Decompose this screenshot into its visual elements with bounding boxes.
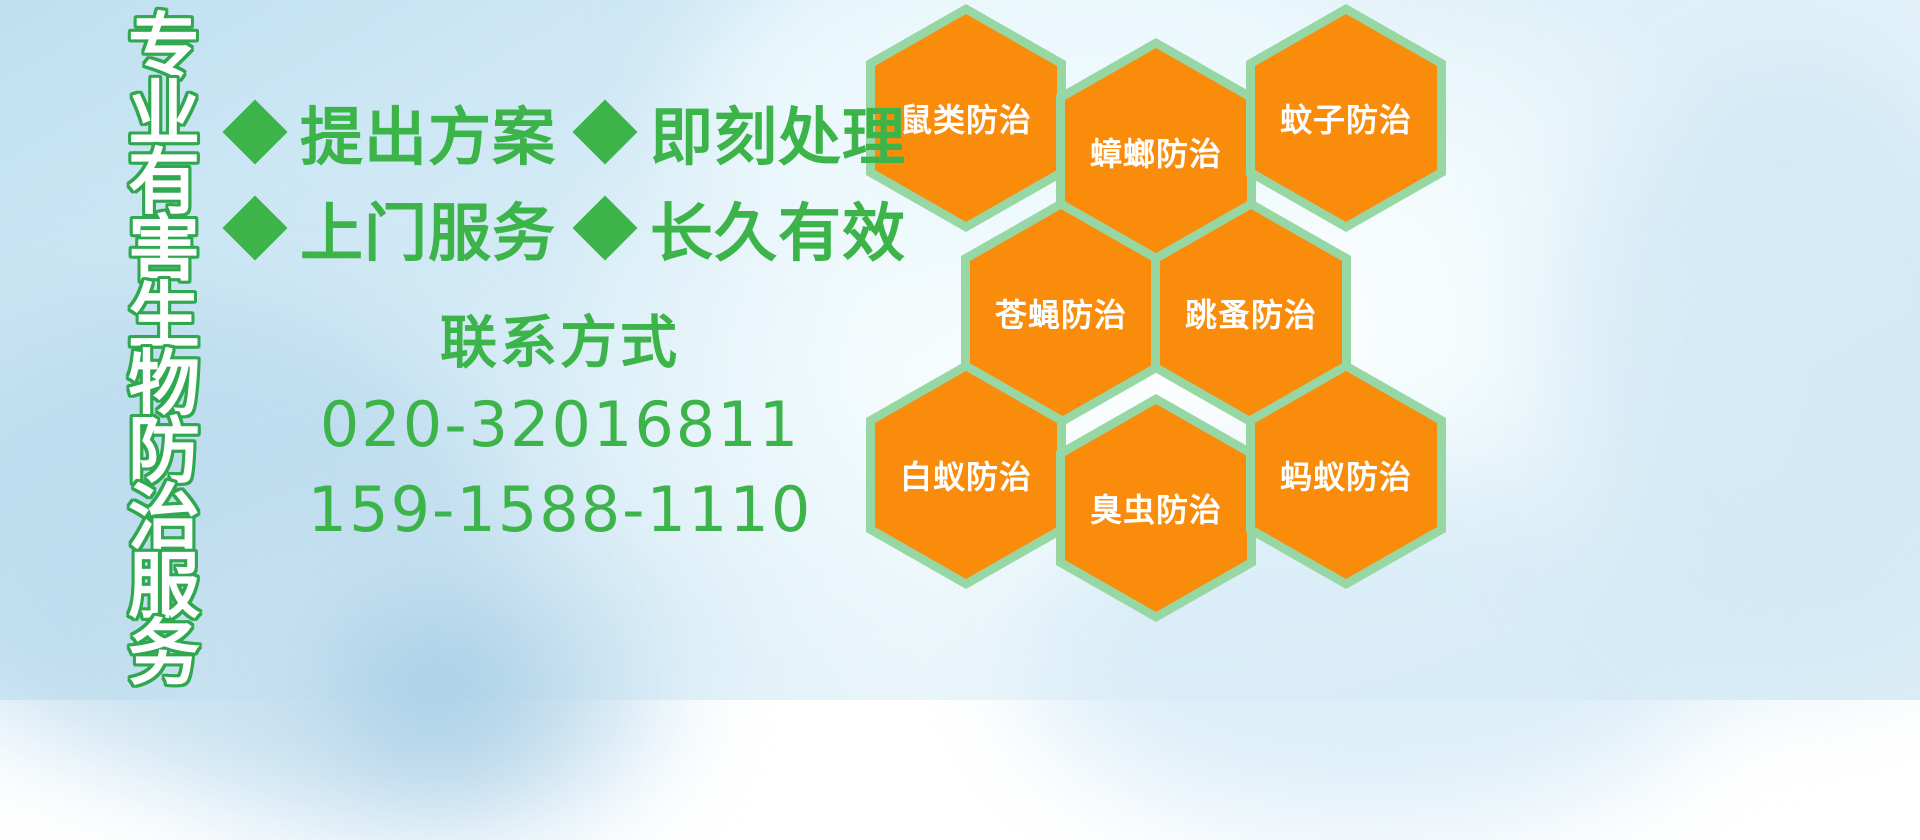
service-honeycomb: 鼠类防治 蟑螂防治 蚊子防治 苍蝇防治 跳蚤防治 白蚁防治 [858, 0, 1458, 706]
feature-label: 提出方案 [300, 87, 556, 178]
diamond-icon [572, 99, 637, 164]
background-blob [1560, 40, 1920, 680]
background-blob [330, 600, 550, 780]
service-hex-label: 蚊子防治 [1280, 95, 1412, 141]
diamond-icon [222, 99, 287, 164]
contact-block: 联系方式 020-32016811 159-1588-1110 [290, 308, 830, 550]
vertical-slogan-char: 生 [128, 283, 200, 350]
diamond-icon [572, 195, 637, 260]
service-hex-label: 蟑螂防治 [1090, 129, 1222, 175]
feature-item-onsite-service: 上门服务 [232, 183, 556, 274]
service-hex-label: 臭虫防治 [1090, 485, 1222, 531]
vertical-slogan-char: 服 [128, 553, 200, 620]
vertical-slogan: 专 业 有 害 生 物 防 治 服 务 [112, 14, 216, 674]
feature-row: 提出方案 即刻处理 [232, 84, 906, 180]
service-hex-label: 蚂蚁防治 [1280, 452, 1412, 498]
feature-row: 上门服务 长久有效 [232, 180, 906, 276]
service-hex-label: 跳蚤防治 [1185, 290, 1317, 336]
hex-inner: 臭虫防治 [1065, 404, 1247, 612]
pest-control-banner: 专 业 有 害 生 物 防 治 服 务 提出方案 即刻处理 上门服务 [0, 0, 1920, 700]
feature-label: 上门服务 [300, 183, 556, 274]
hex-inner: 蚂蚁防治 [1255, 371, 1437, 579]
hex-inner: 蚊子防治 [1255, 14, 1437, 222]
vertical-slogan-char: 业 [128, 81, 200, 148]
service-hex-bedbug[interactable]: 臭虫防治 [1056, 394, 1256, 622]
vertical-slogan-char: 防 [128, 418, 200, 485]
background-blob [150, 520, 670, 840]
feature-label: 即刻处理 [650, 87, 906, 178]
vertical-slogan-char: 治 [128, 485, 200, 552]
diamond-icon [222, 195, 287, 260]
contact-title: 联系方式 [290, 308, 830, 379]
service-hex-label: 苍蝇防治 [995, 290, 1127, 336]
service-hex-mosquito[interactable]: 蚊子防治 [1246, 4, 1446, 232]
feature-item-propose-plan: 提出方案 [232, 87, 556, 178]
vertical-slogan-char: 物 [128, 351, 200, 418]
vertical-slogan-char: 有 [128, 149, 200, 216]
feature-item-long-lasting: 长久有效 [582, 183, 906, 274]
feature-label: 长久有效 [650, 183, 906, 274]
contact-phone-mobile[interactable]: 159-1588-1110 [290, 470, 830, 551]
feature-list: 提出方案 即刻处理 上门服务 长久有效 [232, 84, 906, 276]
service-hex-label: 白蚁防治 [900, 452, 1032, 498]
vertical-slogan-char: 务 [128, 620, 200, 687]
service-hex-label: 鼠类防治 [900, 95, 1032, 141]
feature-item-immediate-handling: 即刻处理 [582, 87, 906, 178]
contact-phone-landline[interactable]: 020-32016811 [290, 385, 830, 466]
hex-inner: 白蚁防治 [875, 371, 1057, 579]
vertical-slogan-char: 专 [128, 14, 200, 81]
vertical-slogan-char: 害 [128, 216, 200, 283]
